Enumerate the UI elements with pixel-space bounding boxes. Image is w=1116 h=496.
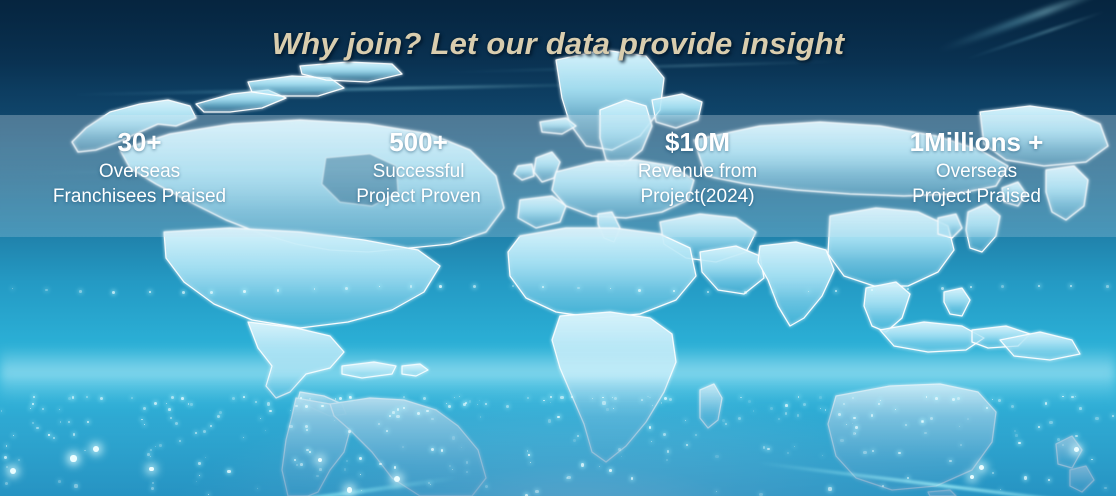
particle-dot (550, 396, 551, 397)
stat-label-line2: Franchisees Praised (0, 184, 279, 209)
particle-dot (1038, 426, 1040, 428)
particle-dot (1011, 405, 1014, 408)
particle-dot (763, 446, 766, 449)
particle-dot (217, 415, 220, 418)
particle-dot (147, 453, 150, 456)
particle-dot (349, 396, 352, 399)
particle-dot (269, 410, 272, 413)
particle-dot (441, 449, 443, 451)
particle-dot (403, 407, 405, 409)
particle-dot (543, 400, 544, 401)
particle-dot (170, 417, 172, 419)
particle-dot (506, 405, 509, 408)
particle-dot (461, 447, 462, 448)
particle-dot (396, 415, 399, 418)
particle-dot (319, 468, 322, 471)
particle-dot (960, 444, 962, 446)
particle-dot (1000, 489, 1001, 490)
particle-dot (166, 403, 167, 404)
particle-dot (685, 420, 686, 421)
particle-flare (970, 475, 974, 479)
particle-dot (970, 286, 972, 288)
particle-dot (825, 409, 826, 410)
particle-dot (1104, 487, 1107, 490)
particle-dot (473, 285, 476, 288)
particle-dot (154, 402, 157, 405)
particle-dot (613, 408, 614, 409)
particle-dot (87, 421, 89, 423)
particle-flare (318, 458, 322, 462)
particle-dot (59, 409, 60, 410)
particle-dot (794, 446, 795, 447)
stat-value: 30+ (0, 128, 279, 157)
particle-dot (203, 430, 206, 433)
particle-dot (198, 462, 200, 464)
particle-dot (878, 403, 880, 405)
particle-dot (667, 450, 670, 453)
particle-dot (528, 454, 529, 455)
ground-plane (0, 376, 1116, 496)
particle-dot (651, 441, 652, 442)
particle-dot (952, 398, 955, 401)
particle-dot (959, 426, 960, 427)
particle-dot (567, 476, 570, 479)
particle-dot (155, 446, 156, 447)
particle-dot (359, 457, 362, 460)
particle-dot (168, 408, 171, 411)
particle-dot (512, 285, 514, 287)
particle-dot (612, 397, 613, 398)
particle-dot (265, 430, 266, 431)
particle-dot (921, 420, 924, 423)
particle-dot (463, 403, 466, 406)
particle-dot (389, 415, 391, 417)
particle-dot (535, 490, 538, 493)
particle-flare (70, 455, 76, 461)
particle-dot (599, 466, 600, 467)
particle-flare (1074, 447, 1079, 452)
particle-dot (36, 427, 39, 430)
page-title: Why join? Let our data provide insight (272, 26, 845, 62)
particle-dot (1014, 430, 1016, 432)
particle-dot (695, 434, 697, 436)
particle-dot (306, 429, 308, 431)
particle-dot (305, 425, 308, 428)
particle-dot (853, 432, 856, 435)
particle-dot (459, 396, 460, 397)
particle-dot (179, 440, 181, 442)
particle-dot (581, 463, 584, 466)
particle-dot (68, 397, 71, 400)
particle-dot (300, 397, 302, 399)
stat-label-line1: Revenue from (558, 159, 837, 184)
particle-flare (347, 487, 353, 493)
particle-dot (609, 469, 612, 472)
particle-dot (255, 401, 257, 403)
stat-label-line2: Project Praised (837, 184, 1116, 209)
particle-dot (772, 291, 774, 293)
particle-dot (1062, 396, 1063, 397)
stats-band: 30+ Overseas Franchisees Praised 500+ Su… (0, 115, 1116, 237)
particle-dot (335, 398, 336, 399)
stat-label-line1: Overseas (837, 159, 1116, 184)
particle-dot (669, 398, 672, 401)
particle-dot (466, 461, 469, 464)
particle-dot (199, 475, 200, 476)
particle-dot (402, 446, 404, 448)
particle-dot (566, 477, 568, 479)
particle-dot (397, 408, 399, 410)
particle-dot (79, 290, 82, 293)
particle-dot (871, 414, 873, 416)
particle-dot (1038, 285, 1040, 287)
particle-flare (979, 465, 984, 470)
particle-flare (394, 476, 400, 482)
particle-dot (5, 482, 8, 485)
particle-dot (846, 424, 847, 425)
particle-dot (243, 437, 244, 438)
particle-dot (573, 439, 576, 442)
particle-dot (992, 399, 994, 401)
particle-dot (1095, 417, 1098, 420)
particle-dot (744, 291, 747, 294)
particle-dot (149, 291, 151, 293)
particle-dot (219, 411, 222, 414)
particle-dot (649, 397, 650, 398)
particle-dot (159, 444, 162, 447)
particle-dot (152, 482, 155, 485)
particle-dot (12, 288, 13, 289)
particle-dot (479, 400, 480, 401)
particle-dot (753, 410, 754, 411)
particle-dot (1091, 459, 1092, 460)
particle-dot (1018, 442, 1021, 445)
particle-dot (602, 397, 604, 399)
particle-dot (305, 405, 308, 408)
particle-dot (452, 469, 453, 470)
particle-dot (42, 408, 45, 411)
particle-dot (1001, 285, 1004, 288)
particle-dot (452, 436, 455, 439)
particle-dot (477, 404, 478, 405)
particle-dot (485, 485, 488, 488)
particle-dot (361, 490, 363, 492)
particle-dot (767, 448, 769, 450)
particle-dot (454, 397, 455, 398)
why-join-banner: Why join? Let our data provide insight 3… (0, 0, 1116, 496)
particle-dot (68, 421, 70, 423)
particle-dot (208, 494, 209, 495)
particle-dot (386, 430, 388, 432)
particle-dot (602, 401, 605, 404)
banner-title-row: Why join? Let our data provide insight (0, 26, 1116, 62)
particle-dot (379, 463, 382, 466)
particle-dot (941, 287, 944, 290)
particle-dot (855, 426, 858, 429)
particle-dot (998, 399, 1001, 402)
particle-dot (577, 435, 579, 437)
particle-dot (797, 414, 800, 417)
particle-dot (853, 417, 856, 420)
world-map-svg (0, 0, 1116, 496)
particle-dot (1, 410, 2, 411)
particle-dot (926, 396, 927, 397)
particle-dot (150, 456, 151, 457)
particle-dot (838, 413, 841, 416)
particle-dot (360, 474, 361, 475)
particle-dot (748, 400, 751, 403)
particle-dot (243, 396, 245, 398)
particle-dot (73, 433, 76, 436)
particle-dot (58, 480, 61, 483)
particle-dot (190, 403, 192, 405)
particle-dot (1075, 396, 1076, 397)
particle-dot (592, 398, 593, 399)
particle-dot (1015, 434, 1018, 437)
particle-dot (195, 432, 198, 435)
particle-dot (48, 434, 49, 435)
particle-dot (379, 286, 380, 287)
particle-dot (181, 397, 184, 400)
particle-dot (378, 423, 380, 425)
particle-dot (344, 468, 346, 470)
particle-dot (571, 396, 573, 398)
particle-dot (798, 396, 799, 397)
particle-dot (935, 397, 938, 400)
particle-dot (1106, 285, 1108, 287)
stat-value: $10M (558, 128, 837, 157)
particle-dot (171, 396, 174, 399)
particle-dot (232, 397, 235, 400)
stat-label-line2: Project(2024) (558, 184, 837, 209)
particle-dot (577, 287, 579, 289)
particle-dot (621, 456, 622, 457)
particle-dot (871, 289, 873, 291)
particle-dot (309, 451, 311, 453)
particle-dot (907, 477, 909, 479)
particle-dot (53, 437, 55, 439)
particle-dot (610, 288, 611, 289)
particle-dot (175, 422, 178, 425)
particle-dot (618, 448, 621, 451)
particle-dot (803, 403, 806, 406)
particle-dot (820, 408, 821, 409)
stat-label-line1: Overseas (0, 159, 279, 184)
particle-dot (394, 466, 397, 469)
particle-dot (785, 412, 788, 415)
particle-dot (431, 418, 434, 421)
particle-dot (1112, 415, 1114, 417)
particle-dot (277, 289, 280, 292)
particle-dot (466, 471, 468, 473)
particle-dot (45, 289, 47, 291)
particle-dot (257, 488, 258, 489)
particle-dot (1057, 438, 1060, 441)
particle-dot (1049, 421, 1052, 424)
particle-dot (778, 418, 780, 420)
particle-dot (707, 291, 709, 293)
particle-dot (112, 291, 115, 294)
particle-dot (840, 439, 843, 442)
particle-dot (289, 425, 292, 428)
particle-dot (60, 421, 61, 422)
particle-dot (822, 455, 823, 456)
particle-dot (949, 460, 952, 463)
particle-dot (260, 418, 262, 420)
particle-dot (649, 426, 651, 428)
particle-dot (294, 459, 296, 461)
particle-dot (205, 457, 206, 458)
particle-dot (557, 416, 560, 419)
particle-dot (182, 291, 185, 294)
particle-dot (348, 430, 351, 433)
particle-dot (144, 424, 145, 425)
particle-dot (4, 456, 7, 459)
particle-dot (785, 404, 788, 407)
particle-dot (32, 403, 34, 405)
particle-dot (686, 444, 688, 446)
particle-dot (349, 396, 351, 398)
particle-dot (880, 400, 882, 402)
particle-dot (907, 288, 909, 290)
particle-dot (759, 493, 762, 496)
particle-dot (314, 288, 316, 290)
particle-dot (1024, 476, 1027, 479)
particle-dot (141, 419, 143, 421)
particle-dot (614, 397, 617, 400)
light-beam-icon (757, 461, 1116, 496)
particle-dot (86, 396, 88, 398)
particle-dot (641, 399, 643, 401)
particle-dot (661, 402, 662, 403)
stat-value: 500+ (279, 128, 558, 157)
particle-dot (560, 396, 563, 399)
particle-dot (1048, 479, 1050, 481)
particle-flare (93, 446, 99, 452)
particle-dot (210, 291, 213, 294)
particle-dot (6, 445, 7, 446)
particle-dot (316, 475, 318, 477)
particle-dot (716, 491, 718, 493)
particle-dot (1070, 285, 1072, 287)
particle-dot (738, 417, 741, 420)
horizon-glow (0, 346, 1116, 404)
particle-dot (770, 407, 773, 410)
particle-layer (0, 0, 1116, 496)
particle-dot (296, 464, 298, 466)
particle-dot (392, 411, 395, 414)
particle-dot (787, 452, 789, 454)
particle-dot (267, 402, 270, 405)
particle-flare (149, 467, 153, 471)
particle-dot (725, 423, 727, 425)
particle-dot (855, 433, 856, 434)
particle-dot (309, 398, 310, 399)
particle-dot (72, 396, 74, 398)
particle-dot (131, 397, 133, 399)
stat-item-overseas-franchisees: 30+ Overseas Franchisees Praised (0, 116, 279, 209)
particle-dot (852, 423, 853, 424)
particle-dot (992, 472, 994, 474)
particle-dot (922, 421, 923, 422)
stat-item-successful-projects: 500+ Successful Project Proven (279, 116, 558, 209)
particle-dot (295, 405, 298, 408)
particle-dot (439, 285, 442, 288)
particle-dot (449, 465, 451, 467)
particle-dot (465, 402, 467, 404)
particle-dot (967, 418, 969, 420)
particle-dot (430, 484, 431, 485)
particle-dot (150, 449, 152, 451)
particle-dot (30, 408, 31, 409)
particle-dot (905, 424, 907, 426)
particle-dot (1075, 435, 1078, 438)
particle-dot (664, 397, 667, 400)
particle-dot (448, 405, 451, 408)
particle-dot (715, 455, 718, 458)
particle-dot (417, 412, 420, 415)
particle-dot (33, 396, 35, 398)
particle-dot (290, 410, 291, 411)
particle-dot (18, 459, 20, 461)
particle-dot (986, 407, 988, 409)
particle-dot (32, 422, 34, 424)
particle-dot (84, 450, 85, 451)
particle-dot (647, 396, 648, 397)
particle-dot (423, 397, 426, 400)
particle-dot (100, 397, 103, 400)
particle-dot (808, 291, 810, 293)
particle-dot (1045, 402, 1048, 405)
stat-item-revenue: $10M Revenue from Project(2024) (558, 116, 837, 209)
particle-dot (469, 400, 471, 402)
particle-dot (740, 397, 741, 398)
particle-dot (843, 403, 845, 405)
particle-dot (895, 409, 896, 410)
particle-dot (306, 449, 308, 451)
particle-dot (143, 407, 146, 410)
particle-dot (346, 460, 348, 462)
particle-dot (227, 470, 230, 473)
particle-dot (428, 482, 430, 484)
particle-dot (548, 419, 551, 422)
particle-dot (410, 285, 412, 287)
particle-dot (527, 397, 529, 399)
particle-dot (550, 402, 551, 403)
particle-flare (10, 468, 16, 474)
particle-dot (6, 466, 8, 468)
particle-dot (426, 410, 429, 413)
particle-dot (74, 484, 77, 487)
particle-dot (1071, 396, 1073, 398)
world-map-graphic (0, 0, 1116, 496)
particle-dot (652, 405, 654, 407)
particle-dot (485, 403, 488, 406)
particle-dot (898, 452, 900, 454)
particle-dot (722, 419, 725, 422)
stat-value: 1Millions + (837, 128, 1116, 157)
light-streak-icon (430, 60, 850, 74)
particle-dot (828, 487, 831, 490)
particle-dot (321, 405, 323, 407)
particle-dot (13, 435, 14, 436)
light-beam-icon (0, 476, 458, 496)
particle-dot (1079, 407, 1082, 410)
particle-dot (345, 287, 348, 290)
particle-dot (852, 397, 854, 399)
particle-dot (403, 396, 405, 398)
particle-dot (210, 425, 212, 427)
